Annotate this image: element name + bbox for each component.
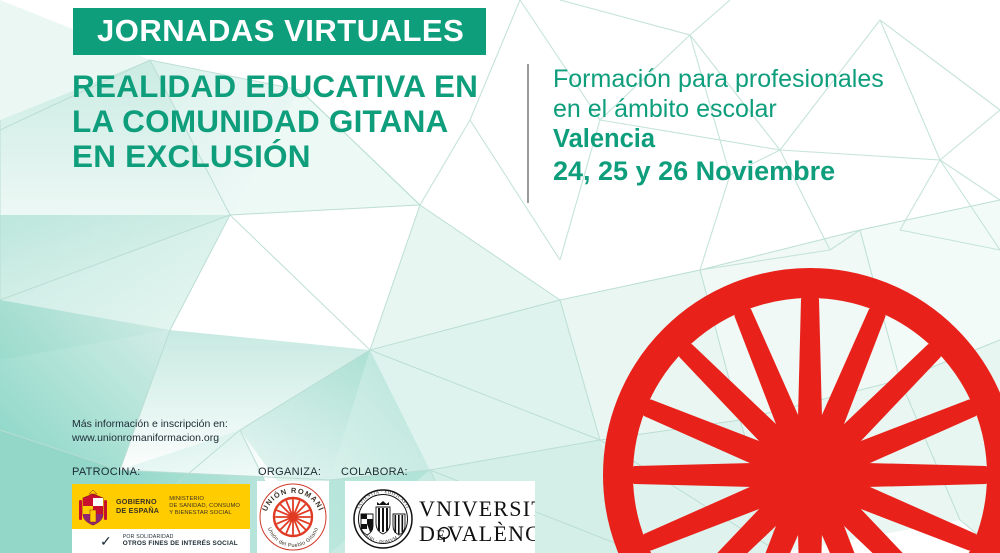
universitat-valencia-logo: SAPIENTIA · EDIFICAVIT SIBI · DOMVM · xyxy=(345,481,535,553)
organiza-label: ORGANIZA: xyxy=(258,466,321,478)
gobierno-line-2: DE ESPAÑA xyxy=(116,507,159,515)
audience-line-1: Formación para profesionales xyxy=(553,64,884,94)
colabora-label: COLABORA: xyxy=(341,466,408,478)
ministerio-text: MINISTERIO DE SANIDAD, CONSUMO Y BIENEST… xyxy=(169,496,240,518)
event-type-banner: JORNADAS VIRTUALES xyxy=(73,8,486,55)
vertical-divider xyxy=(527,64,529,203)
event-details: Formación para profesionales en el ámbit… xyxy=(553,64,884,188)
patrocina-label: PATROCINA: xyxy=(72,466,141,478)
universitat-wordmark-line-1: VNIVERSITAT xyxy=(419,496,535,521)
event-dates: 24, 25 y 26 Noviembre xyxy=(553,155,884,188)
gobierno-logo-top: GOBIERNO DE ESPAÑA MINISTERIO DE SANIDAD… xyxy=(72,484,250,529)
checkmark-icon: ✓ xyxy=(100,534,112,548)
title-line-3: EN EXCLUSIÓN xyxy=(72,139,478,174)
ministerio-line-1: MINISTERIO xyxy=(169,496,240,503)
gobierno-espana-logo: GOBIERNO DE ESPAÑA MINISTERIO DE SANIDAD… xyxy=(72,484,250,553)
contact-label: Más información e inscripción en: xyxy=(72,418,228,432)
gobierno-text: GOBIERNO DE ESPAÑA xyxy=(116,498,159,515)
title-line-1: REALIDAD EDUCATIVA EN xyxy=(72,69,478,104)
solidaridad-strip: ✓ POR SOLIDARIDAD OTROS FINES DE INTERÉS… xyxy=(72,529,250,553)
title-line-2: LA COMUNIDAD GITANA xyxy=(72,104,478,139)
poster-root: JORNADAS VIRTUALES REALIDAD EDUCATIVA EN… xyxy=(0,0,1000,553)
banner-label: JORNADAS VIRTUALES xyxy=(97,15,464,46)
contact-info: Más información e inscripción en: www.un… xyxy=(72,418,228,445)
union-romani-seal-icon: UNIÓN ROMANÍ Unión del Pueblo Gitano xyxy=(257,481,329,553)
spain-coat-of-arms-icon xyxy=(77,488,109,526)
universitat-valencia-mark: SAPIENTIA · EDIFICAVIT SIBI · DOMVM · xyxy=(345,481,535,553)
romani-chakra-wheel-icon xyxy=(590,255,1000,553)
ministerio-line-3: Y BIENESTAR SOCIAL xyxy=(169,510,240,517)
ministerio-line-2: DE SANIDAD, CONSUMO xyxy=(169,503,240,510)
contact-url[interactable]: www.unionromaniformacion.org xyxy=(72,432,228,446)
audience-line-2: en el ámbito escolar xyxy=(553,94,884,124)
page-title: REALIDAD EDUCATIVA EN LA COMUNIDAD GITAN… xyxy=(72,69,478,174)
solidaridad-line-2: OTROS FINES DE INTERÉS SOCIAL xyxy=(123,540,238,548)
event-city: Valencia xyxy=(553,124,884,155)
solidaridad-text: POR SOLIDARIDAD OTROS FINES DE INTERÉS S… xyxy=(123,534,238,548)
union-romani-logo: UNIÓN ROMANÍ Unión del Pueblo Gitano xyxy=(257,481,329,553)
